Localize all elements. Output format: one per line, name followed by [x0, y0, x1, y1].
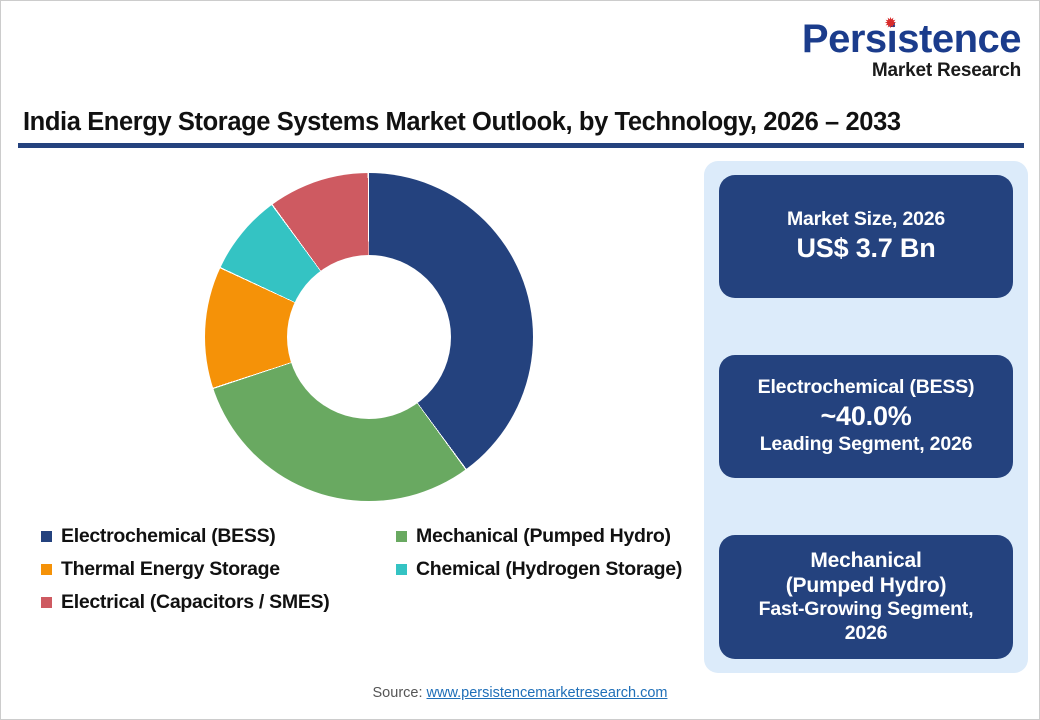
infographic-canvas: Persistence ✹ Market Research India Ener…	[0, 0, 1040, 720]
source-note: Source: www.persistencemarketresearch.co…	[1, 685, 1039, 701]
highlights-panel: Market Size, 2026US$ 3.7 BnElectrochemic…	[704, 161, 1028, 673]
highlight-card-line: Leading Segment, 2026	[760, 433, 973, 457]
legend-row: Electrochemical (BESS)Mechanical (Pumped…	[41, 525, 701, 548]
highlight-card-line: US$ 3.7 Bn	[796, 232, 935, 265]
highlight-card-line: 2026	[845, 622, 888, 646]
title-divider	[18, 143, 1024, 148]
page-title: India Energy Storage Systems Market Outl…	[23, 108, 1019, 137]
legend-item-label: Electrochemical (BESS)	[61, 525, 275, 548]
brand-name: Persistence	[802, 19, 1021, 59]
legend-item[interactable]: Thermal Energy Storage	[41, 558, 396, 581]
highlight-card-line: Fast-Growing Segment,	[759, 598, 974, 622]
legend-item-label: Electrical (Capacitors / SMES)	[61, 591, 329, 614]
highlight-card-leading: Electrochemical (BESS)~40.0%Leading Segm…	[719, 355, 1013, 478]
legend-swatch-icon	[396, 531, 407, 542]
source-prefix: Source:	[373, 685, 427, 701]
legend-row: Thermal Energy StorageChemical (Hydrogen…	[41, 558, 701, 581]
chart-legend: Electrochemical (BESS)Mechanical (Pumped…	[41, 525, 701, 624]
legend-item[interactable]: Mechanical (Pumped Hydro)	[396, 525, 751, 548]
legend-item-label: Thermal Energy Storage	[61, 558, 280, 581]
brand-star-icon: ✹	[884, 17, 897, 30]
legend-item[interactable]: Chemical (Hydrogen Storage)	[396, 558, 751, 581]
source-link[interactable]: www.persistencemarketresearch.com	[427, 685, 668, 701]
donut-center-hole	[287, 255, 451, 419]
legend-item-label: Chemical (Hydrogen Storage)	[416, 558, 682, 581]
highlight-card-line: ~40.0%	[820, 400, 911, 433]
highlight-card-line: (Pumped Hydro)	[786, 573, 947, 598]
highlight-card-line: Electrochemical (BESS)	[758, 376, 975, 400]
highlight-card-market-size: Market Size, 2026US$ 3.7 Bn	[719, 175, 1013, 298]
legend-item[interactable]: Electrical (Capacitors / SMES)	[41, 591, 396, 614]
highlight-card-line: Mechanical	[810, 548, 921, 573]
legend-row: Electrical (Capacitors / SMES)	[41, 591, 701, 614]
brand-tagline: Market Research	[781, 61, 1021, 80]
legend-swatch-icon	[41, 597, 52, 608]
highlight-card-line: Market Size, 2026	[787, 208, 945, 232]
brand-logo: Persistence ✹ Market Research	[781, 19, 1021, 80]
highlight-card-fastest: Mechanical(Pumped Hydro)Fast-Growing Seg…	[719, 535, 1013, 659]
donut-chart	[205, 173, 533, 501]
legend-item[interactable]: Electrochemical (BESS)	[41, 525, 396, 548]
legend-swatch-icon	[396, 564, 407, 575]
legend-swatch-icon	[41, 531, 52, 542]
legend-swatch-icon	[41, 564, 52, 575]
legend-item-label: Mechanical (Pumped Hydro)	[416, 525, 671, 548]
